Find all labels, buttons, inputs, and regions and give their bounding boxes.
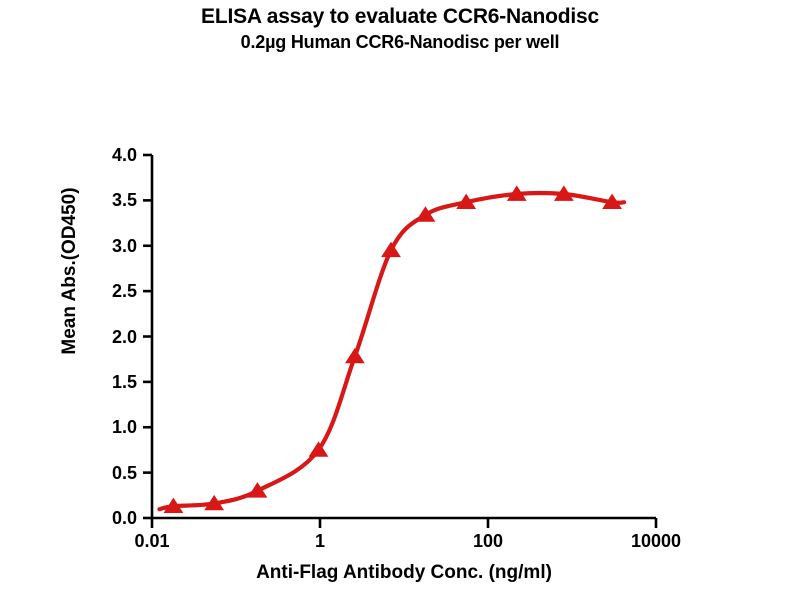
- data-markers: [164, 186, 621, 512]
- y-axis-title: Mean Abs.(OD450): [59, 141, 81, 401]
- x-tick-label: 1: [270, 532, 370, 550]
- y-tick-label: 1.5: [81, 373, 137, 391]
- y-tick-label: 0.0: [81, 509, 137, 527]
- y-tick-label: 3.0: [81, 237, 137, 255]
- data-point-marker: [382, 243, 400, 257]
- y-tick-label: 2.5: [81, 282, 137, 300]
- y-tick-label: 2.0: [81, 328, 137, 346]
- x-tick-label: 0.01: [102, 532, 202, 550]
- elisa-chart-figure: ELISA assay to evaluate CCR6-Nanodisc 0.…: [0, 0, 800, 600]
- plot-area: 0.00.51.01.52.02.53.03.54.0 0.0111001000…: [0, 0, 800, 600]
- y-tick-label: 4.0: [81, 146, 137, 164]
- x-tick-marks: [152, 518, 656, 528]
- x-axis-title: Anti-Flag Antibody Conc. (ng/ml): [152, 562, 656, 584]
- x-tick-label: 10000: [606, 532, 706, 550]
- data-point-marker: [248, 483, 266, 497]
- y-tick-label: 3.5: [81, 191, 137, 209]
- axis-frame: [152, 155, 656, 518]
- fit-curve: [159, 193, 624, 509]
- data-point-marker: [310, 442, 328, 456]
- x-tick-label: 100: [438, 532, 538, 550]
- data-point-marker: [346, 349, 364, 363]
- y-tick-label: 1.0: [81, 418, 137, 436]
- y-tick-label: 0.5: [81, 464, 137, 482]
- y-tick-marks: [143, 155, 152, 518]
